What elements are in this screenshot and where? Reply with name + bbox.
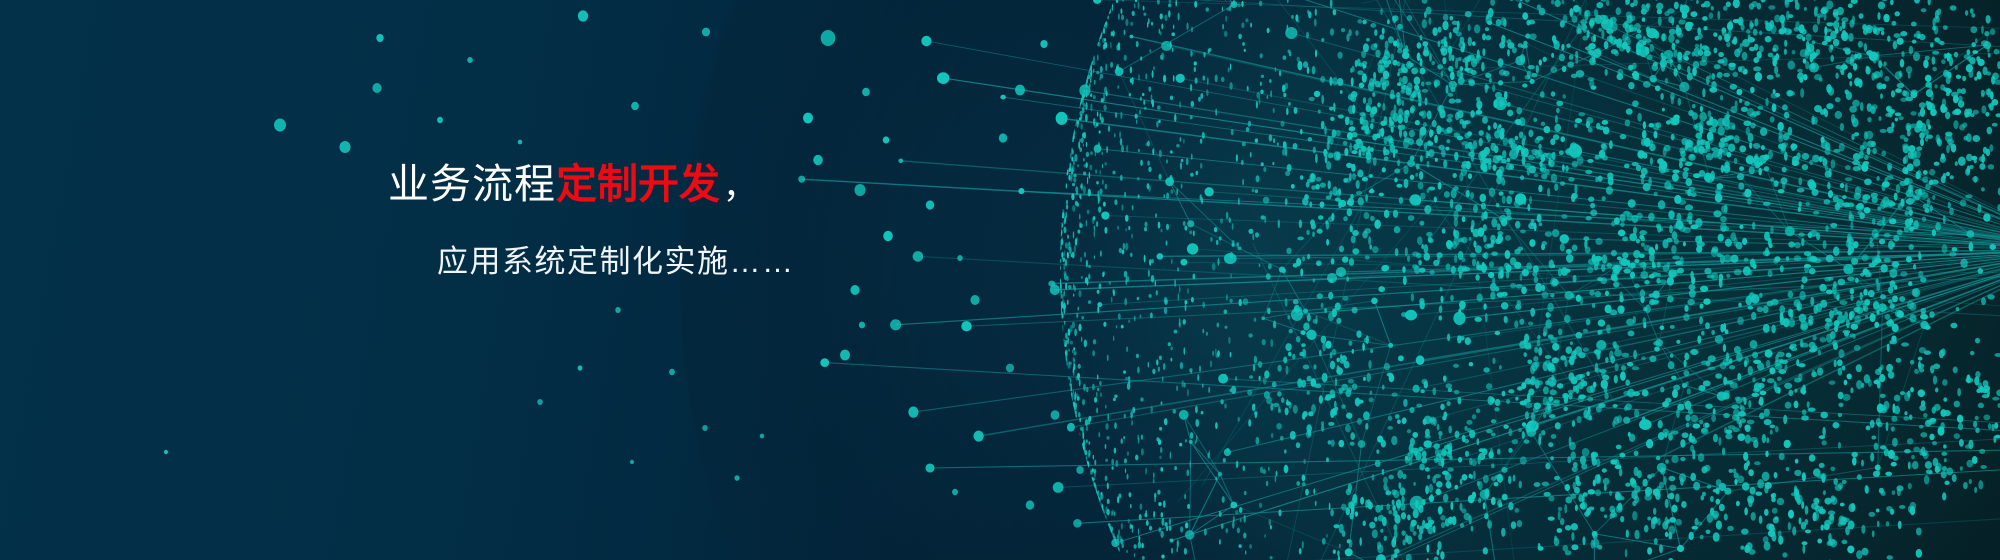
headline-accent: 定制开发: [556, 161, 720, 207]
continent-dot-matrix: [1231, 0, 2000, 560]
network-mesh-nodes: [1115, 0, 1991, 560]
headline: 业务流程定制开发，: [388, 163, 1148, 206]
hero-banner: 业务流程定制开发， 应用系统定制化实施……: [0, 0, 2000, 560]
banner-copy: 业务流程定制开发， 应用系统定制化实施……: [388, 163, 1148, 281]
subline: 应用系统定制化实施……: [437, 236, 1148, 281]
headline-comma: ，: [720, 168, 758, 206]
globe-sphere: [1060, 0, 2000, 560]
headline-plain: 业务流程: [388, 161, 556, 207]
network-mesh: [1119, 0, 1987, 560]
